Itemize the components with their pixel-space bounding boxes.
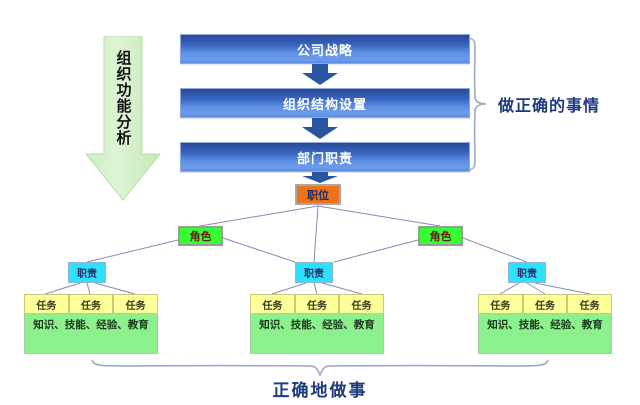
duty-box[interactable]: 职责 [508,262,546,283]
competency-label: 知识、技能、经验、教育 [259,319,375,331]
flow-bar-label: 部门职责 [297,148,353,167]
bottom-curly-brace [90,358,550,376]
task-label: 任务 [262,297,282,312]
task-box[interactable]: 任务 [523,294,568,314]
task-competency-cluster: 任务 任务 任务 知识、技能、经验、教育 [24,294,158,354]
task-box[interactable]: 任务 [24,294,69,314]
flow-bar-label: 公司战略 [297,40,353,59]
task-label: 任务 [490,297,510,312]
do-things-right-label: 正确地做事 [0,376,640,401]
duty-box[interactable]: 职责 [295,262,333,283]
position-box[interactable]: 职位 [295,184,341,205]
role-label: 角色 [190,228,212,244]
competency-box[interactable]: 知识、技能、经验、教育 [478,314,612,354]
task-label: 任务 [535,297,555,312]
task-row: 任务 任务 任务 [24,294,158,314]
flow-bar-department-duty[interactable]: 部门职责 [180,142,470,172]
down-arrow-icon [301,172,339,184]
task-box[interactable]: 任务 [69,294,114,314]
task-competency-cluster: 任务 任务 任务 知识、技能、经验、教育 [250,294,384,354]
task-box[interactable]: 任务 [113,294,158,314]
duty-label: 职责 [304,265,324,280]
diagram-canvas: 组织功能分析 公司战略 组织结构设置 部门职责 做正确的事情 职位 角色 角色 … [0,0,640,405]
duty-label: 职责 [517,265,537,280]
flow-bar-org-structure[interactable]: 组织结构设置 [180,88,470,118]
org-arrow-label: 组织功能分析 [85,50,161,168]
task-box[interactable]: 任务 [567,294,612,314]
competency-label: 知识、技能、经验、教育 [33,319,149,331]
task-competency-cluster: 任务 任务 任务 知识、技能、经验、教育 [478,294,612,354]
task-box[interactable]: 任务 [295,294,340,314]
task-box[interactable]: 任务 [478,294,523,314]
down-arrow-icon [301,64,339,86]
do-right-things-label: 做正确的事情 [498,92,600,116]
right-curly-brace [466,36,488,172]
task-label: 任务 [36,297,56,312]
role-box-right[interactable]: 角色 [418,226,463,246]
task-box[interactable]: 任务 [339,294,384,314]
task-label: 任务 [81,297,101,312]
competency-label: 知识、技能、经验、教育 [487,319,603,331]
task-label: 任务 [126,297,146,312]
role-label: 角色 [430,228,452,244]
competency-box[interactable]: 知识、技能、经验、教育 [250,314,384,354]
task-label: 任务 [580,297,600,312]
task-row: 任务 任务 任务 [478,294,612,314]
duty-label: 职责 [77,265,97,280]
flow-bar-company-strategy[interactable]: 公司战略 [180,34,470,64]
flow-bar-label: 组织结构设置 [283,94,367,113]
task-row: 任务 任务 任务 [250,294,384,314]
org-function-analysis-arrow: 组织功能分析 [85,36,161,202]
task-label: 任务 [352,297,372,312]
duty-box[interactable]: 职责 [68,262,106,283]
position-label: 职位 [307,187,329,203]
down-arrow-icon [301,118,339,140]
task-box[interactable]: 任务 [250,294,295,314]
task-label: 任务 [307,297,327,312]
competency-box[interactable]: 知识、技能、经验、教育 [24,314,158,354]
role-box-left[interactable]: 角色 [178,226,223,246]
